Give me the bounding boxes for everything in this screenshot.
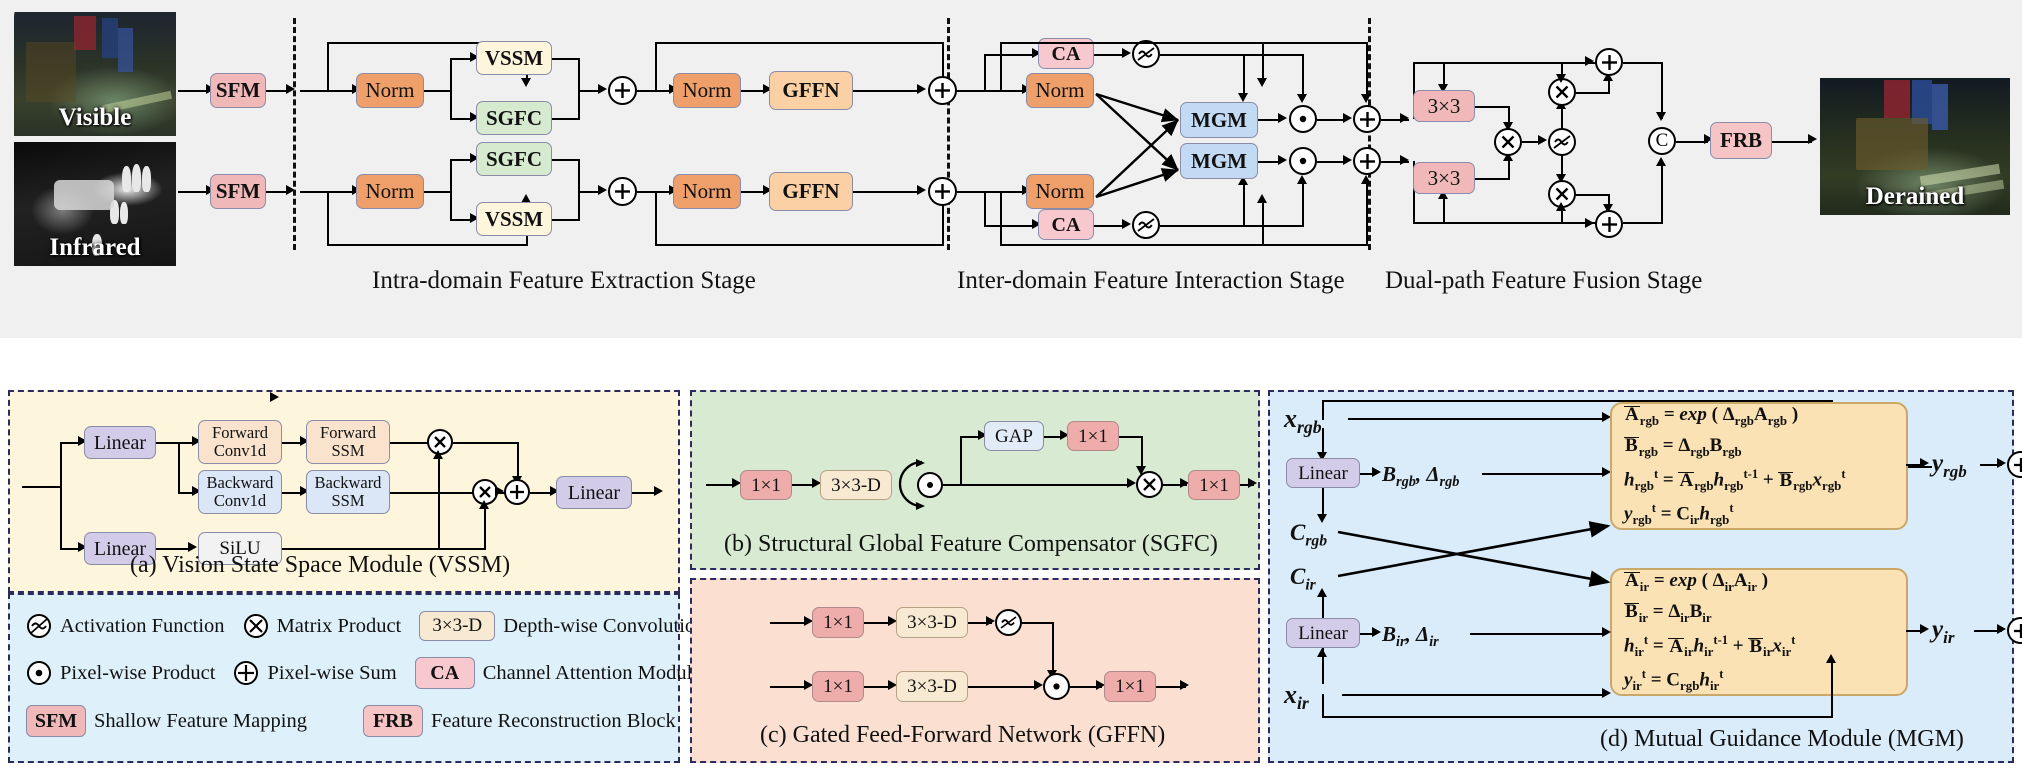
pixel-sum-icon [608, 76, 637, 105]
block-conv3x3-top[interactable]: 3×3 [1413, 90, 1475, 122]
label-c-ir: Cir [1290, 564, 1316, 595]
cross-guidance-arrows [1330, 510, 1620, 598]
legend-chip-ca: CA [415, 657, 475, 689]
legend-label-6: Channel Attention Module [483, 662, 702, 685]
label-x-ir-sub: ir [1297, 693, 1309, 713]
block-norm-inter-bottom[interactable]: Norm [1026, 174, 1094, 209]
block-gffn-top[interactable]: GFFN [769, 71, 853, 110]
label-x-ir-main: x [1284, 680, 1297, 709]
activation-icon [1132, 211, 1160, 239]
block-sgfc-bottom[interactable]: SGFC [476, 142, 552, 176]
activation-icon [26, 613, 52, 639]
activation-icon [1132, 40, 1160, 68]
panel-legend: Activation Function Matrix Product 3×3-D… [8, 593, 680, 763]
pixel-sum-icon [1353, 147, 1381, 175]
label-c-ir-main: C [1290, 564, 1305, 589]
block-conv1x1-in[interactable]: 1×1 [740, 470, 792, 500]
block-gffn-conv1x1-bottom[interactable]: 1×1 [812, 671, 864, 702]
forward-conv1d-line2: Conv1d [214, 443, 266, 460]
label-c-rgb-main: C [1290, 520, 1305, 545]
pixel-product-icon [26, 660, 52, 686]
pixel-sum-icon [1595, 210, 1623, 238]
legend-row-1: Activation Function Matrix Product 3×3-D… [26, 611, 705, 641]
input-caption-visible: Visible [14, 104, 176, 132]
label-b-rgb-main: B [1382, 462, 1396, 486]
stage-caption-fusion: Dual-path Feature Fusion Stage [1385, 267, 1702, 295]
label-b-ir-main: B [1382, 622, 1396, 646]
forward-ssm-line2: SSM [331, 443, 364, 460]
figure-root: Visible Infrared SFM SFM [0, 0, 2022, 771]
block-linear-top[interactable]: Linear [84, 426, 156, 459]
pixel-sum-icon [1353, 105, 1381, 133]
pixel-product-icon [917, 472, 943, 498]
concat-label: C [1656, 130, 1669, 152]
label-x-ir: xir [1284, 680, 1309, 714]
block-conv1x1-out[interactable]: 1×1 [1188, 470, 1240, 500]
legend-chip-sfm: SFM [26, 705, 86, 737]
block-sfm-visible[interactable]: SFM [210, 73, 266, 108]
label-b-ir-sub: ir [1396, 634, 1406, 650]
legend-label-4: Pixel-wise Product [60, 662, 215, 685]
legend-label-2: Matrix Product [277, 615, 402, 638]
block-conv3x3-bottom[interactable]: 3×3 [1413, 162, 1475, 194]
matrix-product-icon [1136, 471, 1163, 498]
equation-box-rgb: Argb = exp ( ΔrgbArgb ) Brgb = ΔrgbBrgb … [1610, 402, 1908, 530]
block-gffn-conv1x1-top[interactable]: 1×1 [812, 607, 864, 638]
backward-ssm-line2: SSM [331, 493, 364, 510]
block-backward-conv1d[interactable]: Backward Conv1d [198, 470, 282, 514]
label-b-rgb-sub: rgb [1396, 474, 1416, 490]
block-conv1x1-gap[interactable]: 1×1 [1067, 421, 1119, 451]
block-gffn-conv1x1-out[interactable]: 1×1 [1104, 671, 1156, 702]
matrix-product-icon [1494, 128, 1522, 156]
label-c-ir-sub: ir [1305, 577, 1315, 594]
block-vssm-bottom[interactable]: VSSM [476, 202, 552, 236]
panel-d-caption: (d) Mutual Guidance Module (MGM) [1600, 726, 1964, 753]
label-b-delta-ir: Bir, Δir [1382, 622, 1439, 651]
input-image-infrared: Infrared [14, 142, 176, 266]
output-caption-derained: Derained [1820, 183, 2010, 211]
panel-b-caption: (b) Structural Global Feature Compensato… [724, 531, 1218, 558]
eq-rgb-4: yrgbt = Cirhrgbt [1624, 501, 1894, 528]
block-norm-top-2[interactable]: Norm [673, 73, 741, 108]
top-architecture-canvas: Visible Infrared SFM SFM [0, 0, 2022, 338]
legend-chip-dwconv: 3×3-D [419, 611, 495, 641]
label-c-rgb: Crgb [1290, 520, 1327, 551]
block-forward-ssm[interactable]: Forward SSM [306, 420, 390, 464]
legend-label-5: Pixel-wise Sum [267, 662, 396, 685]
activation-icon [1548, 128, 1576, 156]
panel-a-caption: (a) Vision State Space Module (VSSM) [130, 552, 510, 579]
label-x-rgb: xrgb [1284, 404, 1322, 438]
backward-conv1d-line2: Conv1d [214, 493, 266, 510]
block-dwconv[interactable]: 3×3-D [820, 470, 892, 500]
stage-divider-2 [947, 18, 950, 250]
eq-ir-3: hirt = Airhirt-1 + Birxirt [1624, 633, 1894, 660]
eq-rgb-3: hrgbt = Argbhrgbt-1 + Brgbxrgbt [1624, 467, 1894, 494]
block-gffn-dwconv-bottom[interactable]: 3×3-D [896, 671, 968, 702]
block-norm-top-1[interactable]: Norm [356, 73, 424, 108]
block-ca-bottom[interactable]: CA [1038, 209, 1094, 240]
pixel-sum-icon [504, 479, 530, 505]
eq-rgb-1: Argb = exp ( ΔrgbArgb ) [1624, 404, 1894, 429]
block-frb[interactable]: FRB [1710, 122, 1772, 159]
matrix-product-icon [243, 613, 269, 639]
block-gffn-bottom[interactable]: GFFN [769, 172, 853, 211]
block-sgfc-top[interactable]: SGFC [476, 101, 552, 135]
pixel-sum-icon [928, 177, 957, 206]
legend-row-3: SFM Shallow Feature Mapping FRB Feature … [26, 705, 676, 737]
legend-label-7: Shallow Feature Mapping [94, 710, 307, 733]
concat-icon: C [1648, 127, 1676, 155]
pixel-product-icon [1043, 673, 1070, 700]
legend-label-1: Activation Function [60, 615, 225, 638]
equation-box-ir: Air = exp ( ΔirAir ) Bir = ΔirBir hirt =… [1610, 568, 1908, 696]
block-mgm-bottom[interactable]: MGM [1180, 143, 1258, 179]
block-sfm-infrared[interactable]: SFM [210, 174, 266, 209]
block-vssm-top[interactable]: VSSM [476, 41, 552, 75]
label-delta-rgb-sub: rgb [1440, 474, 1460, 490]
output-image-derained: Derained [1820, 78, 2010, 215]
stage-divider-1 [293, 18, 296, 250]
input-caption-infrared: Infrared [14, 234, 176, 262]
pixel-product-icon [1289, 105, 1317, 133]
legend-row-2: Pixel-wise Product Pixel-wise Sum CA Cha… [26, 657, 701, 689]
block-gffn-dwconv-top[interactable]: 3×3-D [896, 607, 968, 638]
label-b-delta-rgb: Brgb, Δrgb [1382, 462, 1459, 491]
block-backward-ssm[interactable]: Backward SSM [306, 470, 390, 514]
label-x-rgb-sub: rgb [1297, 417, 1322, 437]
label-delta-ir-sub: ir [1429, 634, 1439, 650]
block-linear-ir[interactable]: Linear [1286, 618, 1360, 648]
activation-icon [995, 609, 1022, 636]
block-linear-rgb[interactable]: Linear [1286, 458, 1360, 488]
eq-rgb-2: Brgb = ΔrgbBrgb [1624, 435, 1894, 460]
stage-divider-3 [1368, 18, 1371, 250]
legend-label-8: Feature Reconstruction Block [431, 710, 676, 733]
stage-caption-intra: Intra-domain Feature Extraction Stage [372, 267, 756, 295]
backward-ssm-line1: Backward [315, 475, 382, 492]
block-norm-bottom-1[interactable]: Norm [356, 174, 424, 209]
block-forward-conv1d[interactable]: Forward Conv1d [198, 420, 282, 464]
block-norm-inter-top[interactable]: Norm [1026, 73, 1094, 108]
backward-conv1d-line1: Backward [207, 475, 274, 492]
label-c-rgb-sub: rgb [1305, 533, 1327, 550]
input-image-visible: Visible [14, 12, 176, 136]
pixel-sum-icon [608, 177, 637, 206]
forward-ssm-line1: Forward [320, 425, 376, 442]
pixel-sum-icon [1595, 48, 1623, 76]
block-mgm-top[interactable]: MGM [1180, 102, 1258, 138]
eq-ir-2: Bir = ΔirBir [1624, 601, 1894, 626]
block-gap[interactable]: GAP [984, 421, 1044, 451]
eq-ir-1: Air = exp ( ΔirAir ) [1624, 570, 1894, 595]
pixel-sum-icon [928, 76, 957, 105]
block-linear-out[interactable]: Linear [556, 476, 632, 509]
panel-mgm: xrgb Linear Brgb, Δrgb Crgb Argb = exp (… [1268, 390, 2014, 763]
panel-gffn: 1×1 3×3-D 1×1 3×3-D 1×1 (c) Gated Feed-F… [690, 578, 1260, 763]
legend-label-3: Depth-wise Convolution [503, 615, 705, 638]
panel-vssm: Linear Linear Forward Conv1d Backward Co… [8, 390, 680, 593]
forward-conv1d-line1: Forward [212, 425, 268, 442]
eq-ir-4: yirt = Crgbhirt [1624, 667, 1894, 694]
panel-sgfc: 1×1 3×3-D GAP 1×1 1×1 [690, 390, 1260, 570]
pixel-sum-icon [233, 660, 259, 686]
legend-chip-frb: FRB [363, 705, 423, 737]
panel-c-caption: (c) Gated Feed-Forward Network (GFFN) [760, 722, 1165, 749]
pixel-product-icon [1289, 147, 1317, 175]
block-norm-bottom-2[interactable]: Norm [673, 174, 741, 209]
stage-caption-inter: Inter-domain Feature Interaction Stage [957, 267, 1345, 295]
label-x-rgb-main: x [1284, 404, 1297, 433]
